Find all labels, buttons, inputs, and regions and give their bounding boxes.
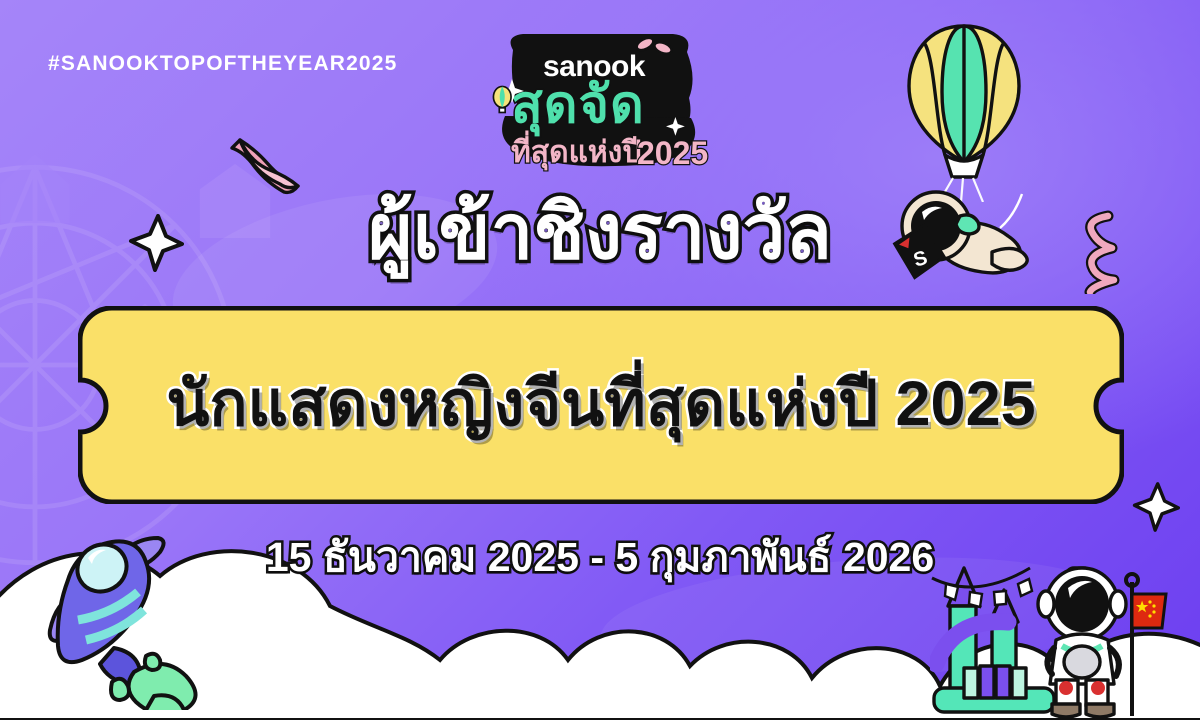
svg-text:สุดจัด: สุดจัด xyxy=(511,76,645,137)
award-title: นักแสดงหญิงจีนที่สุดแห่งปี 2025 xyxy=(78,306,1124,504)
date-range: 15 ธันวาคม 2025 - 5 กุมภาพันธ์ 2026 xyxy=(0,525,1200,590)
award-ticket: นักแสดงหญิงจีนที่สุดแห่งปี 2025 xyxy=(78,306,1124,504)
svg-text:ที่สุดแห่งปี: ที่สุดแห่งปี xyxy=(511,130,641,171)
hashtag-label: #SANOOKTOPOFTHEYEAR2025 xyxy=(48,52,397,76)
sanook-logo: sanook สุดจัด ที่สุดแห่งปี 2025 xyxy=(487,28,713,178)
page-title: ผู้เข้าชิงรางวัล xyxy=(0,188,1200,278)
banner-stage: #SANOOKTOPOFTHEYEAR2025 sanook สุดจัด ที… xyxy=(0,0,1200,720)
hot-air-balloon-icon xyxy=(905,22,1023,202)
svg-text:2025: 2025 xyxy=(637,135,708,171)
